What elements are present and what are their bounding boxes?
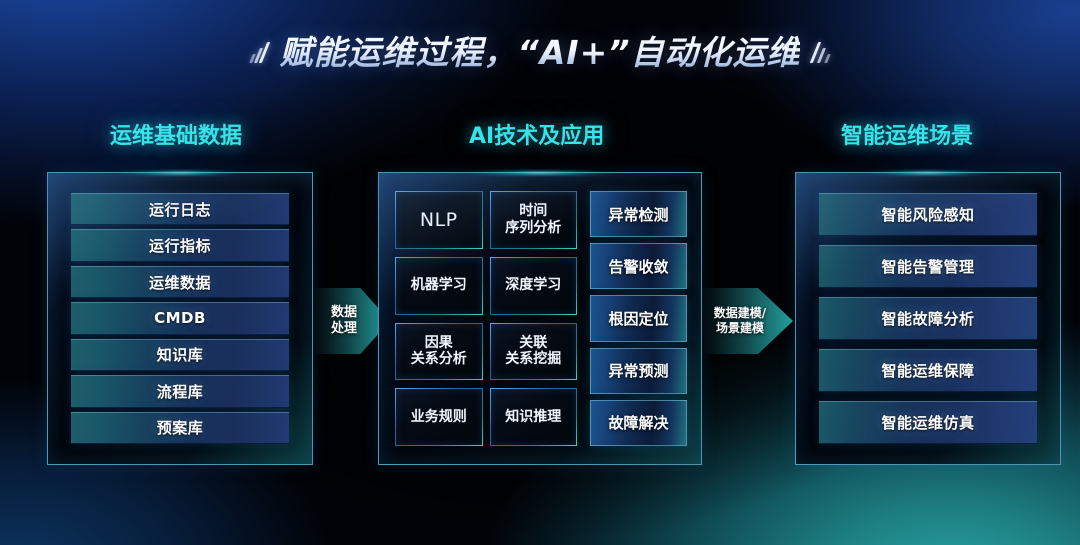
list-item[interactable]: 异常检测 bbox=[590, 191, 687, 237]
panel-ops-base-data: 运行日志 运行指标 运维数据 CMDB 知识库 流程库 预案库 bbox=[47, 172, 313, 465]
grid-cell[interactable]: 因果关系分析 bbox=[395, 323, 483, 381]
grid-cell[interactable]: 知识推理 bbox=[490, 388, 578, 446]
grid-cell[interactable]: 关联关系挖掘 bbox=[490, 323, 578, 381]
list-item[interactable]: 智能告警管理 bbox=[819, 245, 1037, 288]
list-item[interactable]: 根因定位 bbox=[590, 295, 687, 341]
grid-cell[interactable]: 机器学习 bbox=[395, 257, 483, 315]
connector-line-2: 处理 bbox=[331, 321, 357, 336]
list-item[interactable]: 运维数据 bbox=[71, 266, 289, 298]
connector-line-1: 数据建模/ bbox=[714, 306, 766, 320]
ai-tech-content: NLP 时间序列分析 机器学习 深度学习 因果关系分析 关联关系挖掘 业务规则 … bbox=[395, 191, 687, 446]
list-item[interactable]: 运行日志 bbox=[71, 193, 289, 225]
slide-title-row: 赋能运维过程，“AI+”自动化运维 bbox=[0, 26, 1080, 74]
title-slash-right-icon bbox=[814, 37, 829, 63]
slide-canvas: 赋能运维过程，“AI+”自动化运维 运维基础数据 AI技术及应用 智能运维场景 … bbox=[0, 0, 1080, 545]
list-item[interactable]: 智能故障分析 bbox=[819, 297, 1037, 340]
list-item[interactable]: 智能运维保障 bbox=[819, 349, 1037, 392]
ai-technique-grid: NLP 时间序列分析 机器学习 深度学习 因果关系分析 关联关系挖掘 业务规则 … bbox=[395, 191, 577, 446]
connector-data-scene-modeling: 数据建模/ 场景建模 bbox=[701, 288, 793, 354]
title-slash-left-icon bbox=[251, 37, 266, 63]
list-item[interactable]: 运行指标 bbox=[71, 229, 289, 261]
grid-cell[interactable]: NLP bbox=[395, 191, 483, 249]
column-header-ops-base-data: 运维基础数据 bbox=[110, 118, 242, 150]
list-item[interactable]: 预案库 bbox=[71, 412, 289, 444]
grid-cell[interactable]: 业务规则 bbox=[395, 388, 483, 446]
connector-label: 数据 处理 bbox=[331, 305, 357, 337]
connector-label: 数据建模/ 场景建模 bbox=[714, 306, 766, 335]
grid-cell[interactable]: 深度学习 bbox=[490, 257, 578, 315]
list-item[interactable]: 流程库 bbox=[71, 375, 289, 407]
list-item[interactable]: 知识库 bbox=[71, 339, 289, 371]
connector-line-1: 数据 bbox=[331, 305, 357, 320]
smart-ops-scenarios-list: 智能风险感知 智能告警管理 智能故障分析 智能运维保障 智能运维仿真 bbox=[819, 193, 1037, 444]
list-item[interactable]: 智能风险感知 bbox=[819, 193, 1037, 236]
panel-smart-ops-scenarios: 智能风险感知 智能告警管理 智能故障分析 智能运维保障 智能运维仿真 bbox=[795, 172, 1061, 465]
column-header-smart-ops-scenarios: 智能运维场景 bbox=[841, 118, 973, 150]
list-item[interactable]: 异常预测 bbox=[590, 348, 687, 394]
list-item[interactable]: CMDB bbox=[71, 302, 289, 334]
list-item[interactable]: 故障解决 bbox=[590, 400, 687, 446]
list-item[interactable]: 告警收敛 bbox=[590, 243, 687, 289]
list-item[interactable]: 智能运维仿真 bbox=[819, 401, 1037, 444]
connector-line-2: 场景建模 bbox=[716, 321, 764, 335]
column-header-ai-tech-apps: AI技术及应用 bbox=[469, 118, 604, 150]
page-title: 赋能运维过程，“AI+”自动化运维 bbox=[280, 26, 801, 74]
ai-application-list: 异常检测 告警收敛 根因定位 异常预测 故障解决 bbox=[590, 191, 687, 446]
grid-cell[interactable]: 时间序列分析 bbox=[490, 191, 578, 249]
ops-base-data-list: 运行日志 运行指标 运维数据 CMDB 知识库 流程库 预案库 bbox=[71, 193, 289, 444]
panel-ai-tech-apps: NLP 时间序列分析 机器学习 深度学习 因果关系分析 关联关系挖掘 业务规则 … bbox=[378, 172, 702, 465]
